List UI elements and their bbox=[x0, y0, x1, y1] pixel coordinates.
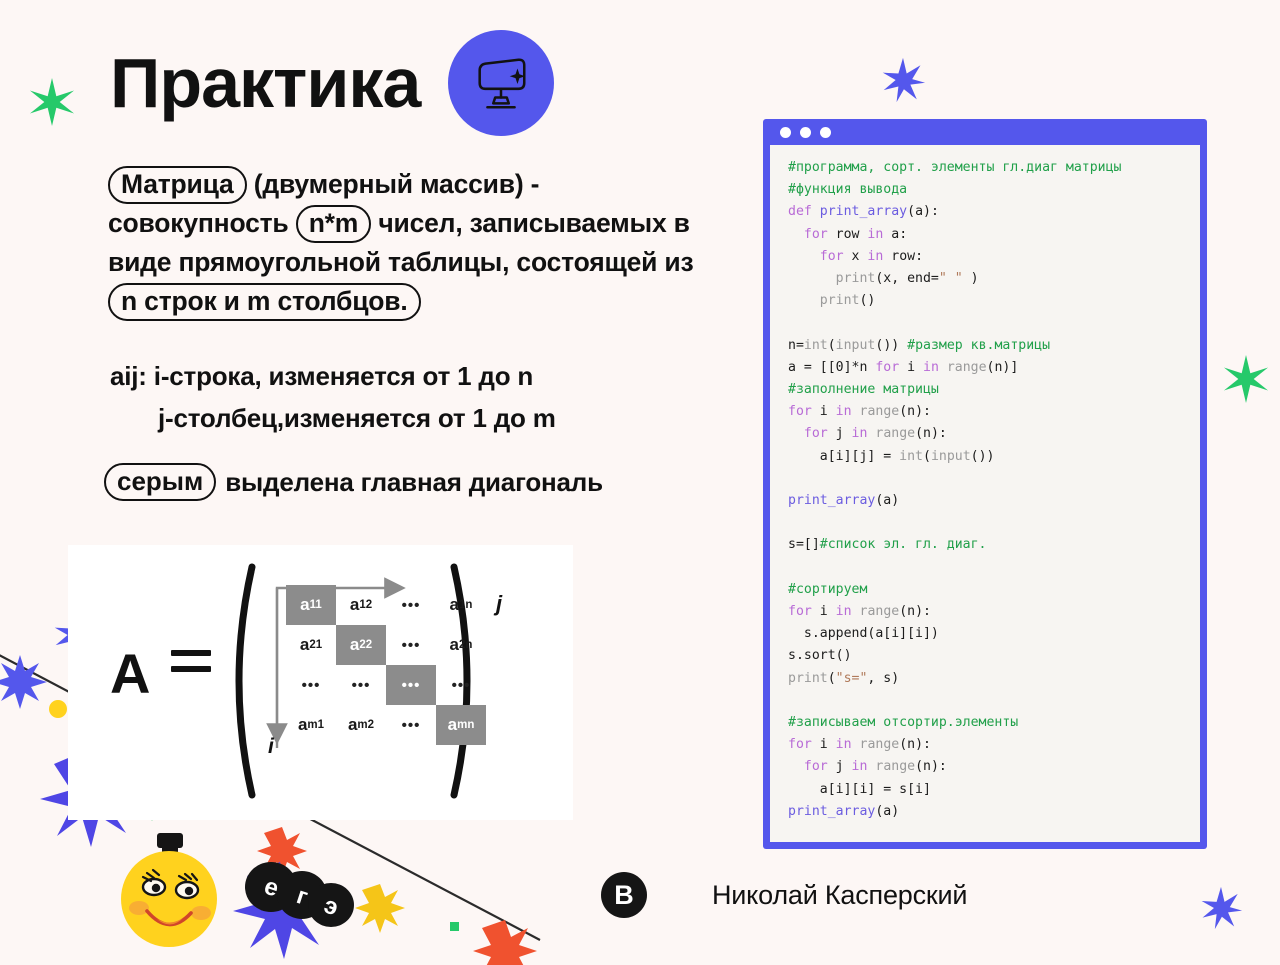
matrix-row: am1am2•••amn bbox=[286, 705, 486, 745]
matrix-figure: A j i a11 bbox=[68, 545, 573, 820]
matrix-cell: a22 bbox=[336, 625, 386, 665]
pill-n-rows-m-cols: n строк и m столбцов. bbox=[108, 283, 421, 321]
definition-line-2-rest: чисел, записываемых в bbox=[378, 208, 689, 238]
matrix-row: a11a12•••a1n bbox=[286, 585, 486, 625]
matrix-cell: a2n bbox=[436, 625, 486, 665]
definition-block: Матрица (двумерный массив) - совокупност… bbox=[108, 165, 748, 321]
matrix-label-A: A bbox=[110, 641, 150, 706]
page-title-row: Практика bbox=[110, 30, 554, 136]
window-dot-2[interactable] bbox=[800, 127, 811, 138]
matrix-cell: a11 bbox=[286, 585, 336, 625]
matrix-grid: a11a12•••a1na21a22•••a2n••••••••••••am1a… bbox=[286, 585, 486, 745]
definition-line-3: виде прямоугольной таблицы, состоящей из bbox=[108, 243, 748, 282]
equals-sign bbox=[171, 650, 211, 672]
matrix-row: •••••••••••• bbox=[286, 665, 486, 705]
slide-root: е г э Практика Матрица (двумерный массив… bbox=[0, 0, 1280, 961]
indices-line-col: j-столбец,изменяется от 1 до m bbox=[110, 397, 556, 439]
monitor-sparkle-icon bbox=[448, 30, 554, 136]
window-dot-3[interactable] bbox=[820, 127, 831, 138]
pill-n-times-m: n*m bbox=[296, 205, 371, 243]
indices-line-row: aij: i-строка, изменяется от 1 до n bbox=[110, 355, 556, 397]
axis-label-i: i bbox=[268, 735, 274, 759]
axis-label-j: j bbox=[496, 591, 502, 617]
green-star-top-left bbox=[28, 78, 76, 131]
gray-note-block: серым выделена главная диагональ bbox=[104, 463, 603, 501]
pill-gray: серым bbox=[104, 463, 216, 501]
matrix-cell: ••• bbox=[286, 665, 336, 705]
left-paren bbox=[218, 563, 258, 799]
window-dots bbox=[780, 127, 831, 138]
matrix-cell: a1n bbox=[436, 585, 486, 625]
matrix-cell: ••• bbox=[386, 705, 436, 745]
indices-block: aij: i-строка, изменяется от 1 до n j-ст… bbox=[110, 355, 556, 439]
vk-badge-icon[interactable]: В bbox=[601, 872, 647, 918]
matrix-cell: ••• bbox=[386, 585, 436, 625]
definition-line-2-pre: совокупность bbox=[108, 208, 289, 238]
blue-star-top-right bbox=[880, 57, 926, 108]
matrix-cell: a12 bbox=[336, 585, 386, 625]
author-name: Николай Касперский bbox=[712, 880, 967, 911]
matrix-cell: ••• bbox=[436, 665, 486, 705]
matrix-cell: ••• bbox=[336, 665, 386, 705]
footer: В Николай Касперский bbox=[601, 872, 967, 918]
blue-star-bottom-right bbox=[1199, 886, 1243, 935]
ege-logo-icon: е г э bbox=[245, 855, 355, 938]
matrix-cell: am1 bbox=[286, 705, 336, 745]
matrix-cell: ••• bbox=[386, 665, 436, 705]
code-window: #программа, сорт. элементы гл.диаг матри… bbox=[763, 119, 1207, 849]
definition-line-4: n строк и m столбцов. bbox=[108, 282, 748, 321]
pill-matrix: Матрица bbox=[108, 166, 247, 204]
matrix-cell: am2 bbox=[336, 705, 386, 745]
matrix-cell: amn bbox=[436, 705, 486, 745]
window-dot-1[interactable] bbox=[780, 127, 791, 138]
definition-line-2: совокупность n*m чисел, записываемых в bbox=[108, 204, 748, 243]
code-text: #программа, сорт. элементы гл.диаг матри… bbox=[788, 157, 1200, 823]
definition-line-1: Матрица (двумерный массив) - bbox=[108, 165, 748, 204]
code-body[interactable]: #программа, сорт. элементы гл.диаг матри… bbox=[770, 145, 1200, 842]
definition-line-1-rest: (двумерный массив) - bbox=[254, 169, 540, 199]
green-star-right bbox=[1222, 355, 1270, 408]
ornament-bulb-icon bbox=[117, 833, 223, 956]
gray-note-rest: выделена главная диагональ bbox=[225, 467, 603, 498]
page-title: Практика bbox=[110, 48, 420, 118]
matrix-cell: a21 bbox=[286, 625, 336, 665]
matrix-cell: ••• bbox=[386, 625, 436, 665]
matrix-row: a21a22•••a2n bbox=[286, 625, 486, 665]
